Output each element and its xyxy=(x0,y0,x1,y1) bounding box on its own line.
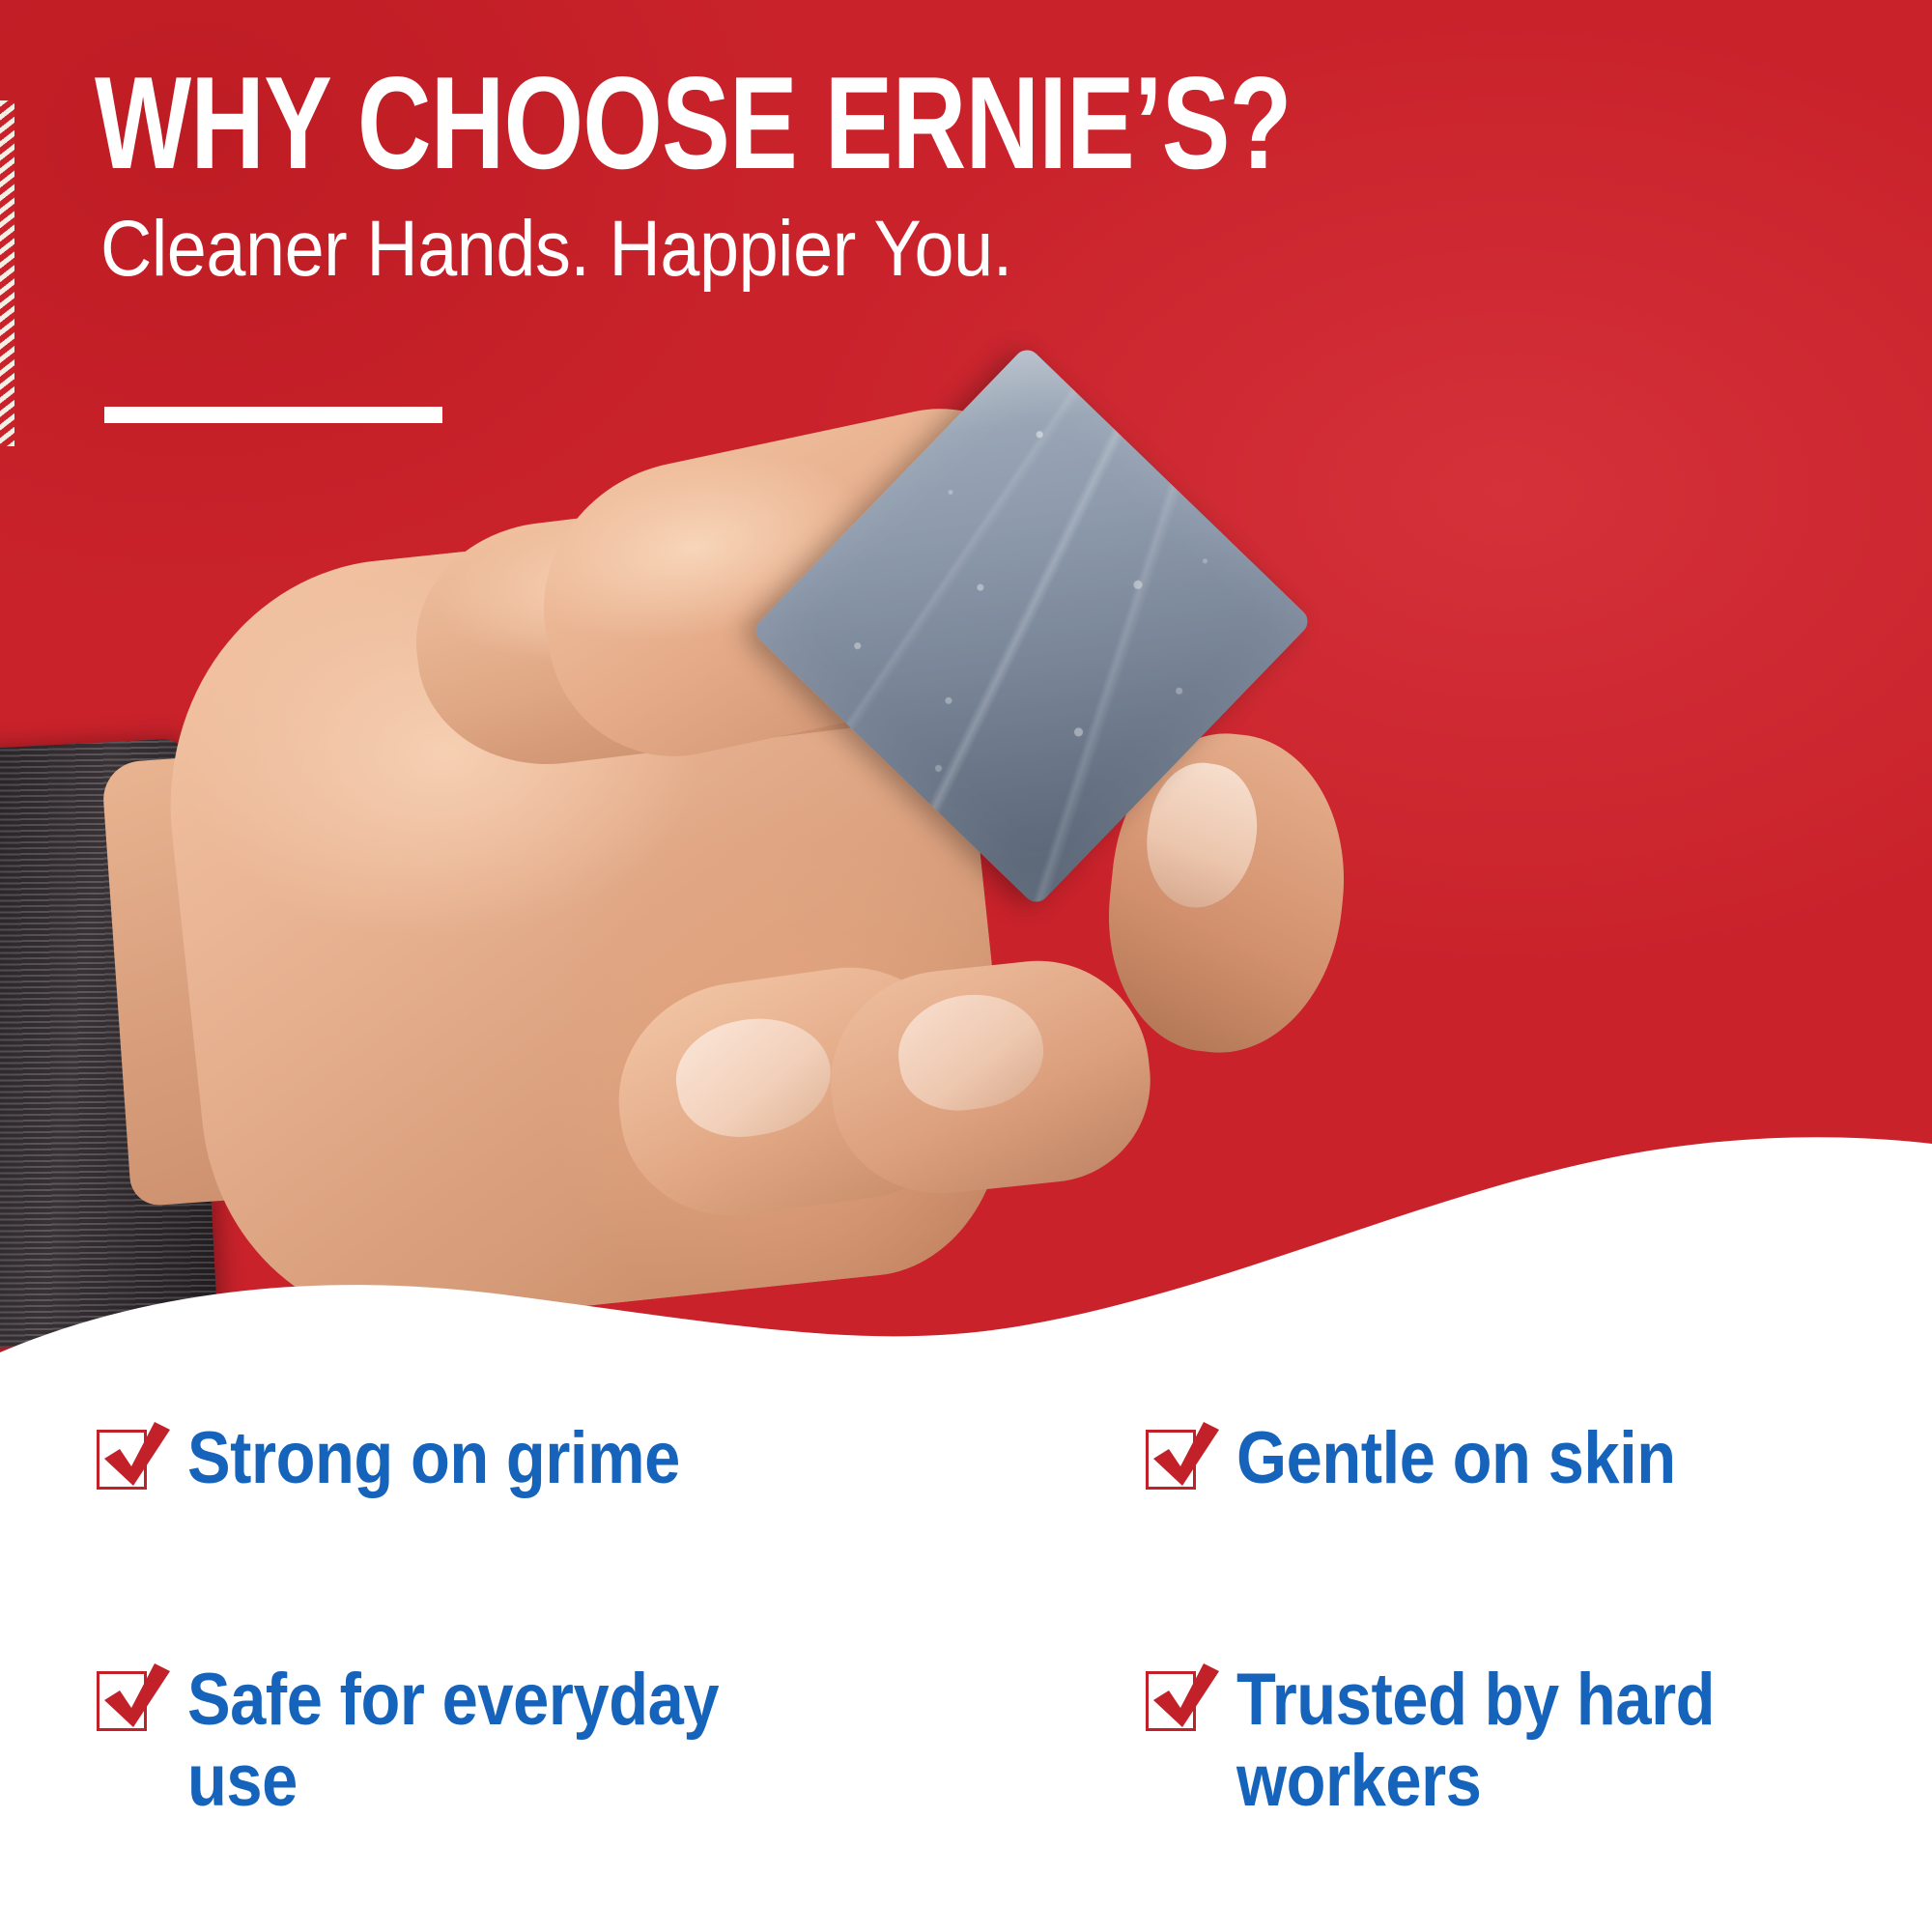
promo-poster: WHY CHOOSE ERNIE’S? Cleaner Hands. Happi… xyxy=(0,0,1932,1932)
check-mark-glyph xyxy=(1144,1416,1227,1499)
benefit-item-gentle-on-skin[interactable]: Gentle on skin xyxy=(1101,1418,1855,1660)
checkbox-checked-icon[interactable] xyxy=(97,1430,151,1484)
check-mark-glyph xyxy=(95,1658,178,1741)
benefits-grid: Strong on grime Gentle on skin xyxy=(97,1418,1855,1822)
benefit-label: Strong on grime xyxy=(187,1418,680,1499)
benefit-item-trusted-by-hard-workers[interactable]: Trusted by hard workers xyxy=(1101,1660,1855,1822)
check-mark-glyph xyxy=(95,1416,178,1499)
hero-panel: WHY CHOOSE ERNIE’S? Cleaner Hands. Happi… xyxy=(0,0,1932,1372)
checkbox-checked-icon[interactable] xyxy=(1146,1430,1200,1484)
accent-rule xyxy=(104,407,442,423)
check-mark-glyph xyxy=(1144,1658,1227,1741)
checkbox-checked-icon[interactable] xyxy=(1146,1671,1200,1725)
page-subtitle: Cleaner Hands. Happier You. xyxy=(100,205,1012,294)
benefit-label: Gentle on skin xyxy=(1236,1418,1676,1499)
benefit-item-strong-on-grime[interactable]: Strong on grime xyxy=(97,1418,1101,1660)
checkbox-checked-icon[interactable] xyxy=(97,1671,151,1725)
wave-divider xyxy=(0,1063,1932,1372)
benefit-label: Trusted by hard workers xyxy=(1236,1660,1780,1822)
benefit-label: Safe for everyday use xyxy=(187,1660,749,1822)
benefits-section: Strong on grime Gentle on skin xyxy=(0,1372,1932,1932)
benefit-item-safe-for-everyday-use[interactable]: Safe for everyday use xyxy=(97,1660,1101,1822)
page-title: WHY CHOOSE ERNIE’S? xyxy=(95,60,1292,185)
